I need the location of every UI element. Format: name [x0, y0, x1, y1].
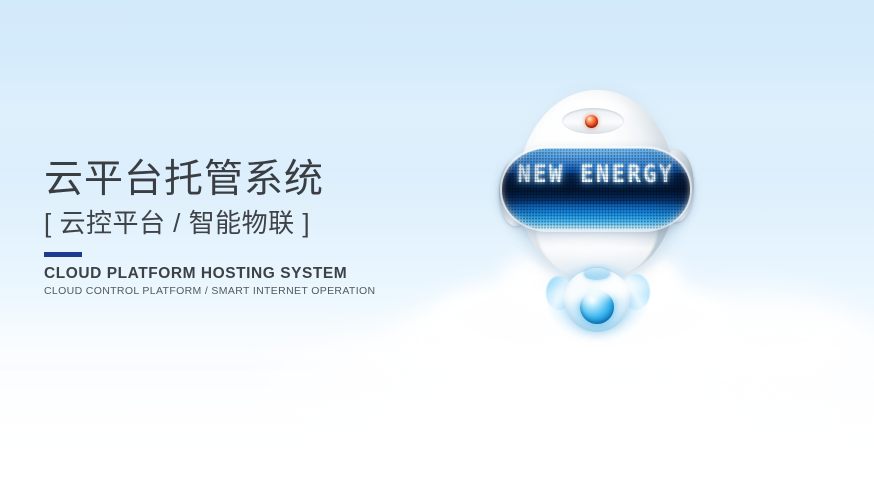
page-subtitle-chinese: [ 云控平台 / 智能物联 ]	[44, 205, 444, 241]
hero-text-block: 云平台托管系统 [ 云控平台 / 智能物联 ] CLOUD PLATFORM H…	[44, 156, 444, 299]
cloud-floor-fade	[0, 370, 874, 480]
robot-collar	[584, 268, 610, 280]
robot-mascot: NEW ENERGY	[496, 86, 696, 306]
title-divider	[44, 252, 82, 257]
cloud-puff	[330, 330, 530, 396]
cloud-puff	[470, 338, 730, 408]
page-title-chinese: 云平台托管系统	[44, 156, 444, 203]
robot-led-visor: NEW ENERGY	[502, 148, 690, 230]
robot-led-indicator-icon	[585, 115, 598, 128]
cloud-base-glow	[250, 340, 874, 480]
robot-visor-screen: NEW ENERGY	[501, 148, 691, 230]
hero-banner: NEW ENERGY 云平台托管系统 [ 云控平台 / 智能物联 ] CLOUD…	[0, 0, 874, 480]
sky-haze-lower	[0, 300, 874, 390]
page-title-english: CLOUD PLATFORM HOSTING SYSTEM	[44, 264, 444, 283]
visor-edge-shading	[501, 148, 691, 230]
page-subtitle-english: CLOUD CONTROL PLATFORM / SMART INTERNET …	[44, 284, 444, 299]
cloud-puff	[700, 316, 874, 386]
